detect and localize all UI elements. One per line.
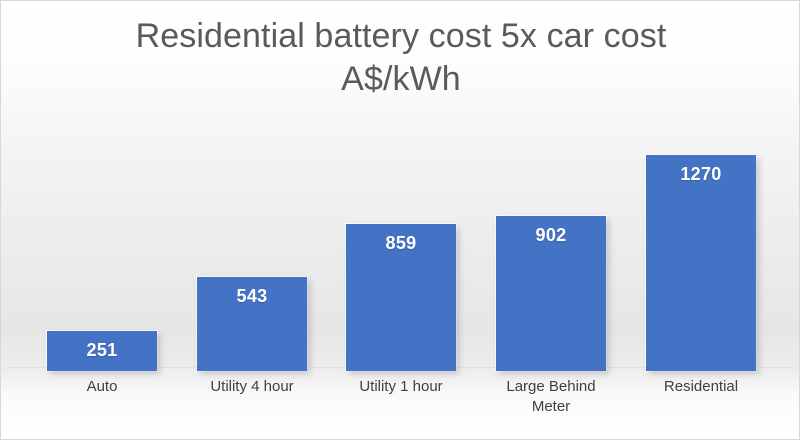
- bar-group-auto: 251: [47, 125, 157, 371]
- category-label-utility-1-hour: Utility 1 hour: [326, 377, 476, 397]
- bar-value-label: 902: [496, 225, 606, 246]
- bar-group-large-behind-meter: 902: [496, 125, 606, 371]
- bar-value-label: 251: [47, 340, 157, 361]
- bar-chart: Residential battery cost 5x car cost A$/…: [0, 0, 800, 440]
- bar-utility-1-hour[interactable]: 859: [346, 224, 456, 371]
- bar-group-utility-1-hour: 859: [346, 125, 456, 371]
- bar-large-behind-meter[interactable]: 902: [496, 216, 606, 371]
- bar-auto[interactable]: 251: [47, 331, 157, 371]
- category-label-residential: Residential: [626, 377, 776, 397]
- category-label-utility-4-hour: Utility 4 hour: [177, 377, 327, 397]
- bar-group-residential: 1270: [646, 125, 756, 371]
- bar-utility-4-hour[interactable]: 543: [197, 277, 307, 371]
- bar-value-label: 543: [197, 286, 307, 307]
- bar-value-label: 1270: [646, 164, 756, 185]
- bar-group-utility-4-hour: 543: [197, 125, 307, 371]
- category-label-large-behind-meter: Large Behind Meter: [476, 377, 626, 417]
- category-label-auto: Auto: [27, 377, 177, 397]
- chart-title: Residential battery cost 5x car cost A$/…: [1, 15, 800, 101]
- category-axis: Auto Utility 4 hour Utility 1 hour Large…: [1, 377, 800, 437]
- bar-residential[interactable]: 1270: [646, 155, 756, 371]
- plot-area: 251 543 859 902 1270: [1, 121, 800, 371]
- bar-value-label: 859: [346, 233, 456, 254]
